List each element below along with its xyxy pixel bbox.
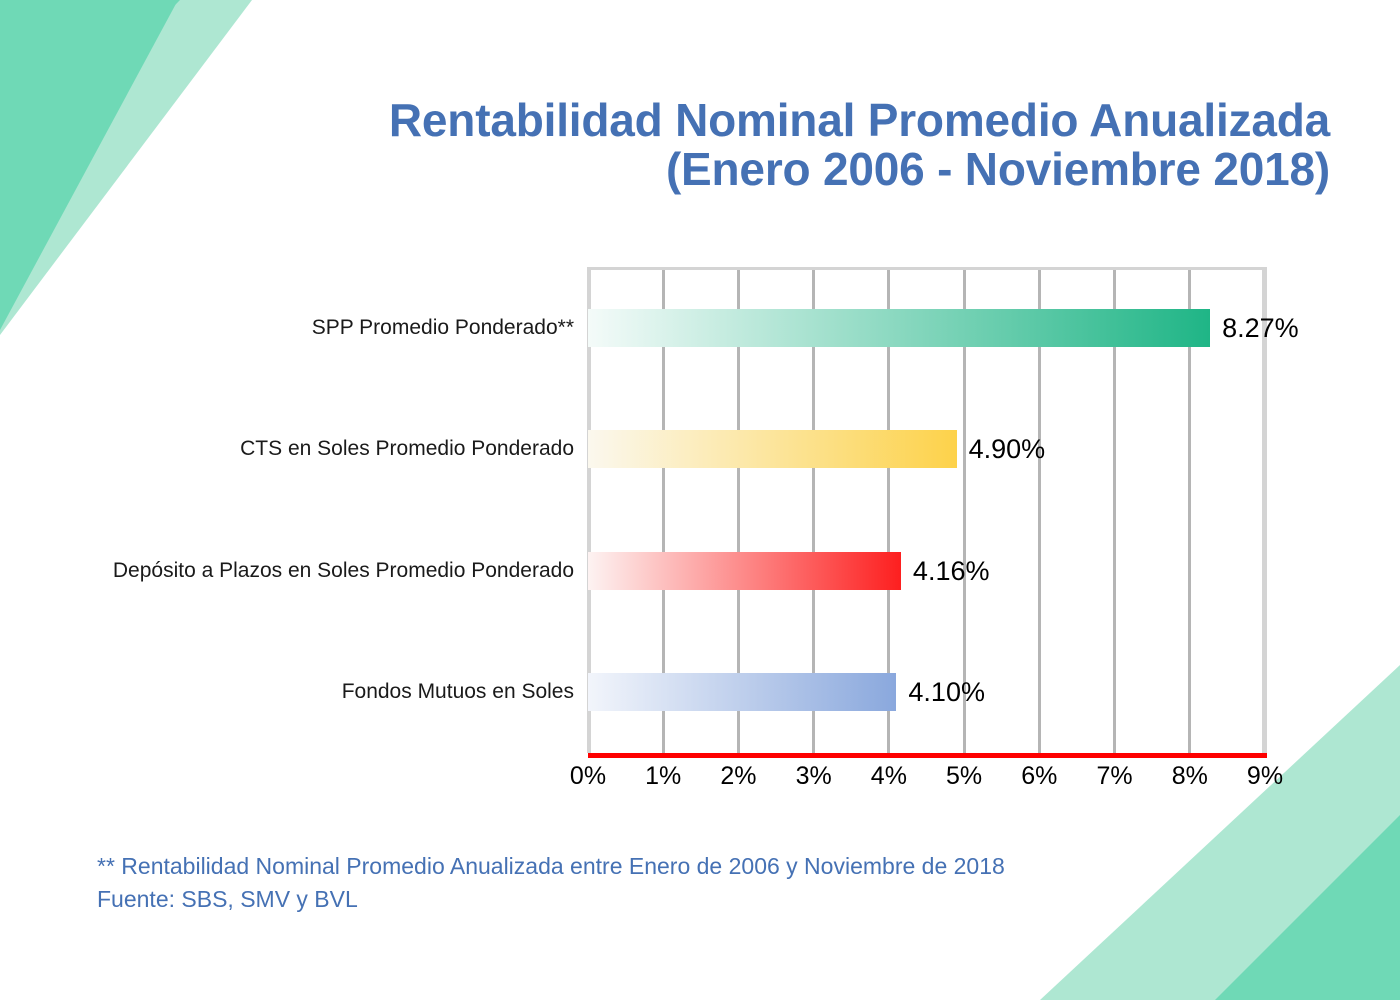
slide-canvas: Rentabilidad Nominal Promedio Anualizada…	[0, 0, 1400, 1000]
footnote-line-2: Fuente: SBS, SMV y BVL	[97, 883, 1005, 916]
x-tick-7: 7%	[1080, 762, 1150, 791]
bar-1[interactable]	[588, 430, 957, 468]
x-tick-8: 8%	[1155, 762, 1225, 791]
x-tick-1: 1%	[628, 762, 698, 791]
category-label-3: Fondos Mutuos en Soles	[342, 673, 574, 711]
bottom-right-dark-triangle	[1215, 815, 1400, 1000]
category-label-1: CTS en Soles Promedio Ponderado	[240, 430, 574, 468]
x-axis-tick-labels: 0%1%2%3%4%5%6%7%8%9%	[588, 762, 1265, 798]
x-tick-2: 2%	[703, 762, 773, 791]
x-tick-9: 9%	[1230, 762, 1300, 791]
page-title: Rentabilidad Nominal Promedio Anualizada…	[260, 96, 1330, 194]
x-tick-4: 4%	[854, 762, 924, 791]
title-line-2: (Enero 2006 - Noviembre 2018)	[260, 145, 1330, 194]
category-axis-labels: SPP Promedio Ponderado**CTS en Soles Pro…	[0, 267, 574, 753]
title-line-1: Rentabilidad Nominal Promedio Anualizada	[260, 96, 1330, 145]
footnote: ** Rentabilidad Nominal Promedio Anualiz…	[97, 850, 1005, 917]
bar-3[interactable]	[588, 673, 896, 711]
bar-0[interactable]	[588, 309, 1210, 347]
category-label-0: SPP Promedio Ponderado**	[312, 309, 574, 347]
x-tick-5: 5%	[929, 762, 999, 791]
x-tick-0: 0%	[553, 762, 623, 791]
x-tick-3: 3%	[779, 762, 849, 791]
bar-value-label-3: 4.10%	[908, 673, 985, 711]
bar-value-label-1: 4.90%	[969, 430, 1046, 468]
bar-2[interactable]	[588, 552, 901, 590]
x-tick-6: 6%	[1004, 762, 1074, 791]
top-left-dark-triangle	[0, 0, 180, 184]
footnote-line-1: ** Rentabilidad Nominal Promedio Anualiz…	[97, 850, 1005, 883]
bar-value-label-2: 4.16%	[913, 552, 990, 590]
category-label-2: Depósito a Plazos en Soles Promedio Pond…	[113, 552, 574, 590]
x-axis-line	[588, 753, 1267, 758]
bar-value-label-0: 8.27%	[1222, 309, 1299, 347]
